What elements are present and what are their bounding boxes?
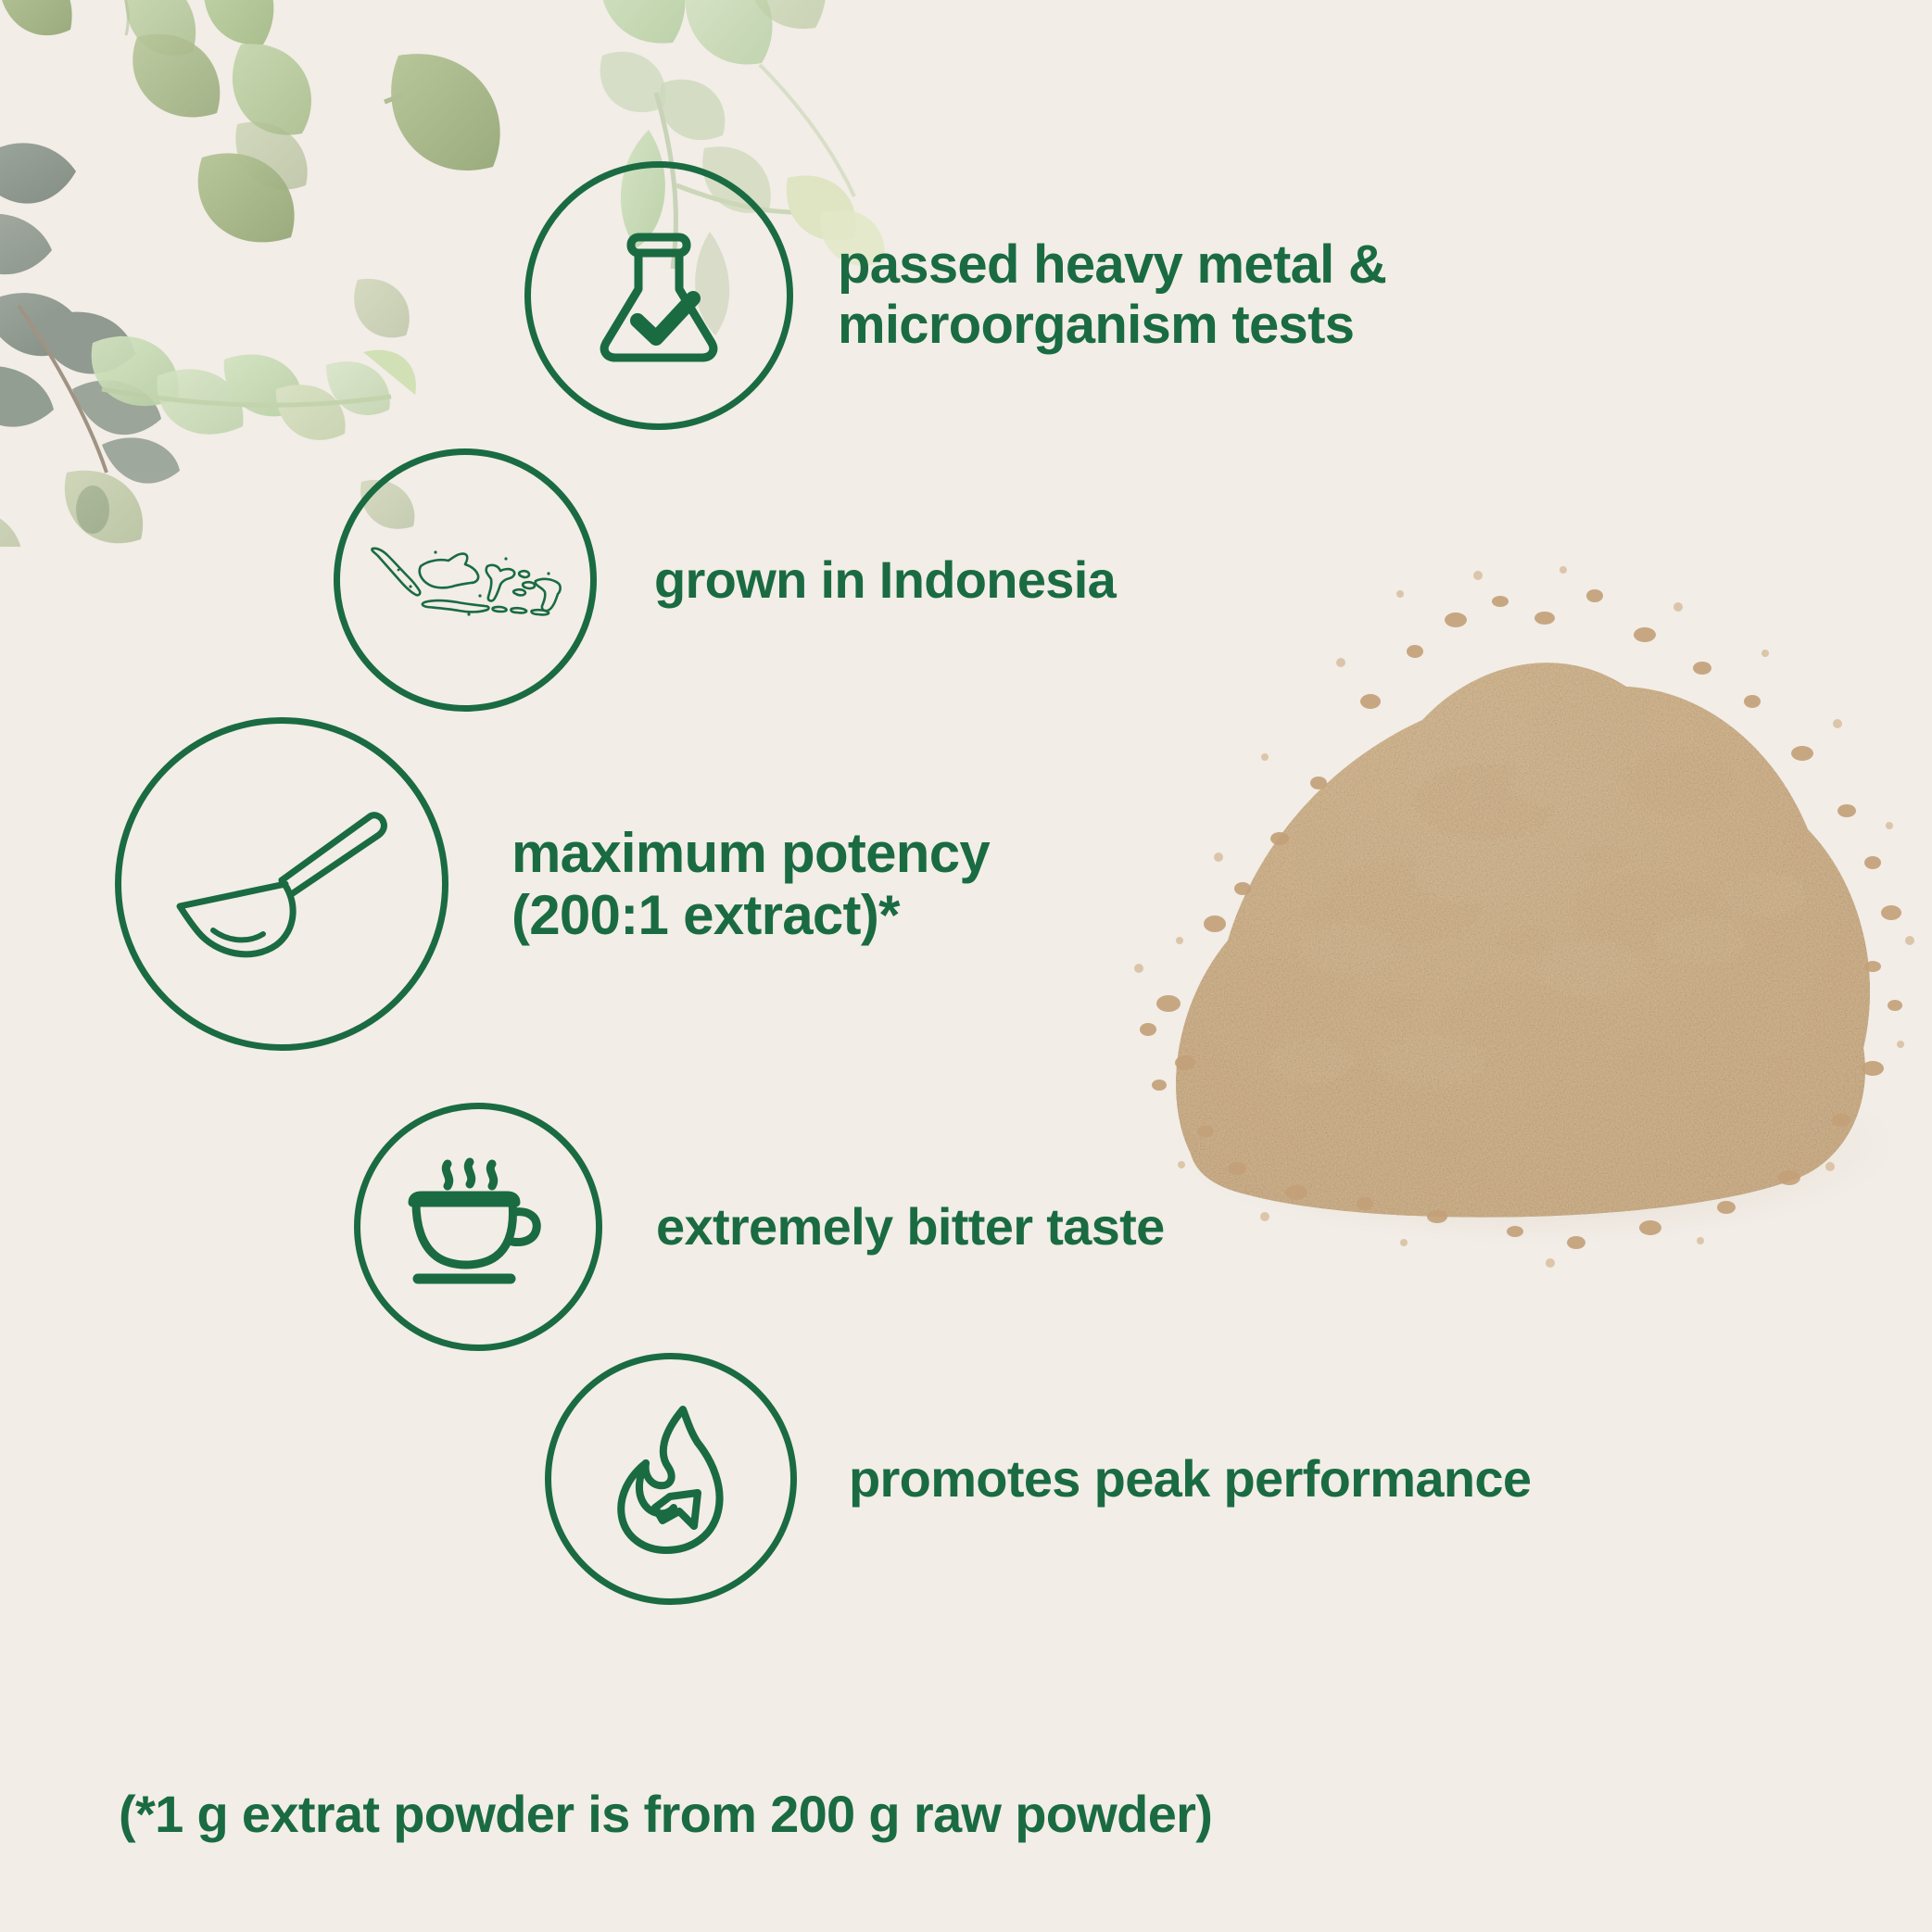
indonesia-map-icon xyxy=(367,529,563,631)
footnote-text: (*1 g extrat powder is from 200 g raw po… xyxy=(119,1784,1212,1844)
feature-label: promotes peak performance xyxy=(849,1450,1531,1509)
flask-check-icon xyxy=(580,217,738,374)
infographic-canvas: passed heavy metal & microorganism tests xyxy=(0,0,1932,1932)
feature-label: passed heavy metal & microorganism tests xyxy=(838,235,1386,356)
feature-row-performance: promotes peak performance xyxy=(545,1353,1531,1605)
badge-circle xyxy=(334,448,597,712)
feature-row-potency: maximum potency (200:1 extract)* xyxy=(115,717,990,1051)
powder-pile-photo xyxy=(1126,505,1923,1274)
feature-row-taste: extremely bitter taste xyxy=(354,1103,1165,1351)
hot-cup-icon xyxy=(403,1156,553,1297)
feature-label: grown in Indonesia xyxy=(654,551,1116,610)
spoon-icon xyxy=(167,791,397,977)
feature-label: extremely bitter taste xyxy=(656,1198,1165,1256)
badge-circle xyxy=(115,717,448,1051)
badge-circle xyxy=(524,161,793,430)
feature-row-lab-tested: passed heavy metal & microorganism tests xyxy=(524,161,1386,430)
badge-circle xyxy=(545,1353,797,1605)
flame-arrow-icon xyxy=(601,1402,740,1556)
feature-label: maximum potency (200:1 extract)* xyxy=(511,822,990,946)
badge-circle xyxy=(354,1103,602,1351)
feature-row-origin: grown in Indonesia xyxy=(334,448,1116,712)
